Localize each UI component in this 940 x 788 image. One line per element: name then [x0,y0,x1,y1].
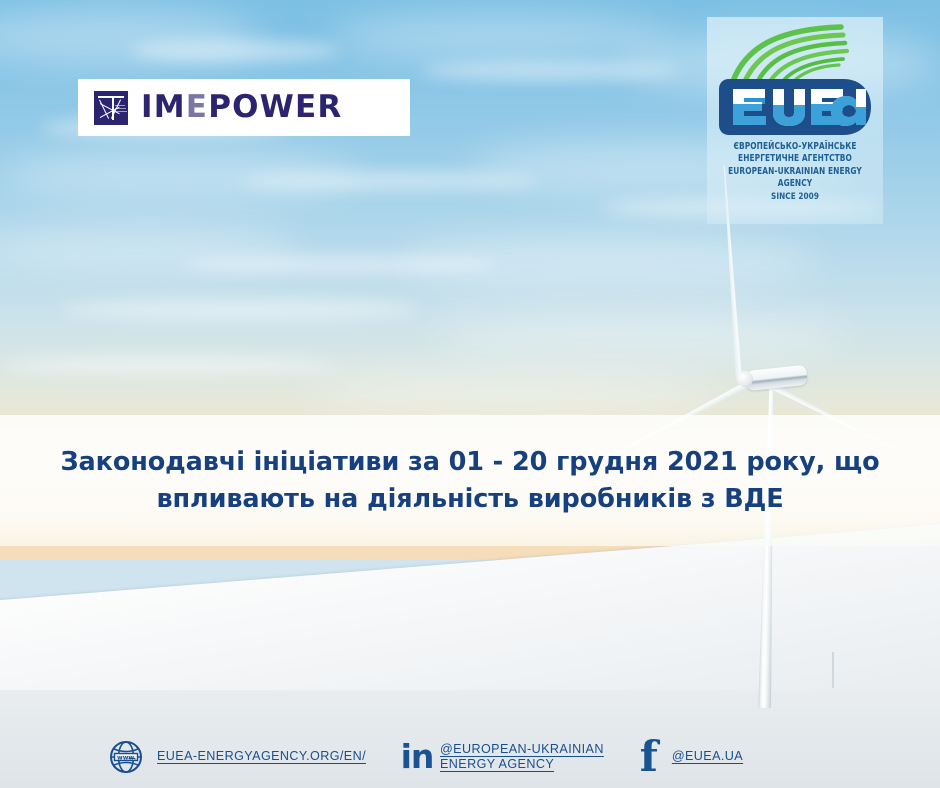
linkedin-icon[interactable]: in [400,744,434,770]
facebook-glyph: f [640,741,658,774]
facebook-handle-label[interactable]: @EUEA.UA [672,749,743,764]
facebook-icon[interactable]: f [636,741,662,774]
imepower-text-e: E [186,89,208,125]
euea-subtitle-line3: EUROPEAN-UKRAINIAN ENERGY AGENCY [718,166,873,191]
euea-subtitle: ЄВРОПЕЙСЬКО-УКРАЇНСЬКЕ ЕНЕРГЕТИЧНЕ АГЕНТ… [718,141,873,203]
euea-logo-panel: ЄВРОПЕЙСЬКО-УКРАЇНСЬКЕ ЕНЕРГЕТИЧНЕ АГЕНТ… [707,17,883,224]
footer-bar: www. EUEA-ENERGYAGENCY.ORG/EN/ in @EUROP… [0,726,940,788]
euea-subtitle-line2: ЕНЕРГЕТИЧНЕ АГЕНТСТВО [718,153,873,165]
imepower-text-power: POWER [208,89,342,125]
linkedin-link-group[interactable]: in @EUROPEAN-UKRAINIAN ENERGY AGENCY [400,742,604,773]
euea-logo-mark [715,23,875,141]
imepower-wordmark: IMEPOWER [141,92,343,123]
website-link-group[interactable]: www. EUEA-ENERGYAGENCY.ORG/EN/ [108,739,366,775]
title-line-1: Законодавчі ініціативи за 01 - 20 грудня… [60,444,879,480]
poster-canvas: IMEPOWER [0,0,940,788]
imepower-logo: IMEPOWER [78,79,410,136]
linkedin-handle-label[interactable]: @EUROPEAN-UKRAINIAN ENERGY AGENCY [440,742,604,773]
title-banner: Законодавчі ініціативи за 01 - 20 грудня… [0,415,940,546]
globe-www-icon: www. [108,739,144,775]
imepower-mark-icon [94,91,128,125]
facebook-link-group[interactable]: f @EUEA.UA [636,741,743,774]
euea-swoosh-icon [715,23,875,141]
euea-subtitle-line4: SINCE 2009 [718,191,873,203]
euea-subtitle-line1: ЄВРОПЕЙСЬКО-УКРАЇНСЬКЕ [718,141,873,153]
linkedin-glyph: in [401,744,434,770]
imepower-text-im: IM [141,89,186,125]
title-line-2: впливають на діяльність виробників з ВДЕ [156,481,783,517]
website-link-label[interactable]: EUEA-ENERGYAGENCY.ORG/EN/ [157,749,366,764]
